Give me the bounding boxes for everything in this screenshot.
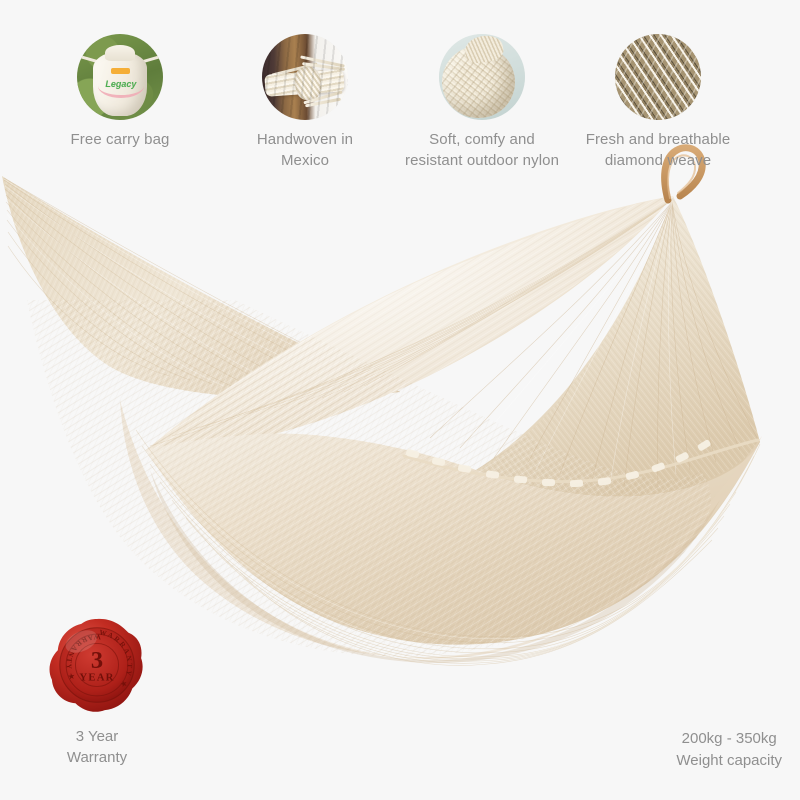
warranty-label: 3 Year Warranty [22, 726, 172, 768]
seal-number: 3 [91, 647, 103, 674]
weight-capacity-block: 200kg - 350kg Weight capacity [676, 728, 782, 772]
feature-badge-label: Free carry bag [32, 129, 208, 150]
weight-capacity-value: 200kg - 350kg [676, 728, 782, 750]
weight-capacity-label: Weight capacity [676, 750, 782, 772]
feature-badge-label: Soft, comfy and resistant outdoor nylon [394, 129, 570, 171]
yarn-ball-photo-icon [439, 34, 525, 120]
diamond-weave-macro-photo-icon [615, 34, 701, 120]
warranty-wax-seal-icon: WARRANTY ★ WARRANTY ★ 3 YEAR [48, 616, 146, 714]
feature-badge-label: Fresh and breathable diamond weave [570, 129, 746, 171]
product-feature-image: Legacy Free carry bag Han [0, 0, 800, 800]
handwoven-rope-photo-icon [262, 34, 348, 120]
carry-bag-photo-icon: Legacy [77, 34, 163, 120]
feature-badge-soft-resistant-nylon: Soft, comfy and resistant outdoor nylon [394, 34, 570, 171]
feature-badge-label: Handwoven in Mexico [217, 129, 393, 171]
warranty-block: WARRANTY ★ WARRANTY ★ 3 YEAR 3 Year Warr… [22, 616, 172, 768]
feature-badge-free-carry-bag: Legacy Free carry bag [32, 34, 208, 150]
feature-badge-handwoven-in-mexico: Handwoven in Mexico [217, 34, 393, 171]
feature-badge-strip: Legacy Free carry bag Han [0, 0, 800, 180]
seal-unit: YEAR [79, 672, 114, 684]
feature-badge-diamond-weave: Fresh and breathable diamond weave [570, 34, 746, 171]
